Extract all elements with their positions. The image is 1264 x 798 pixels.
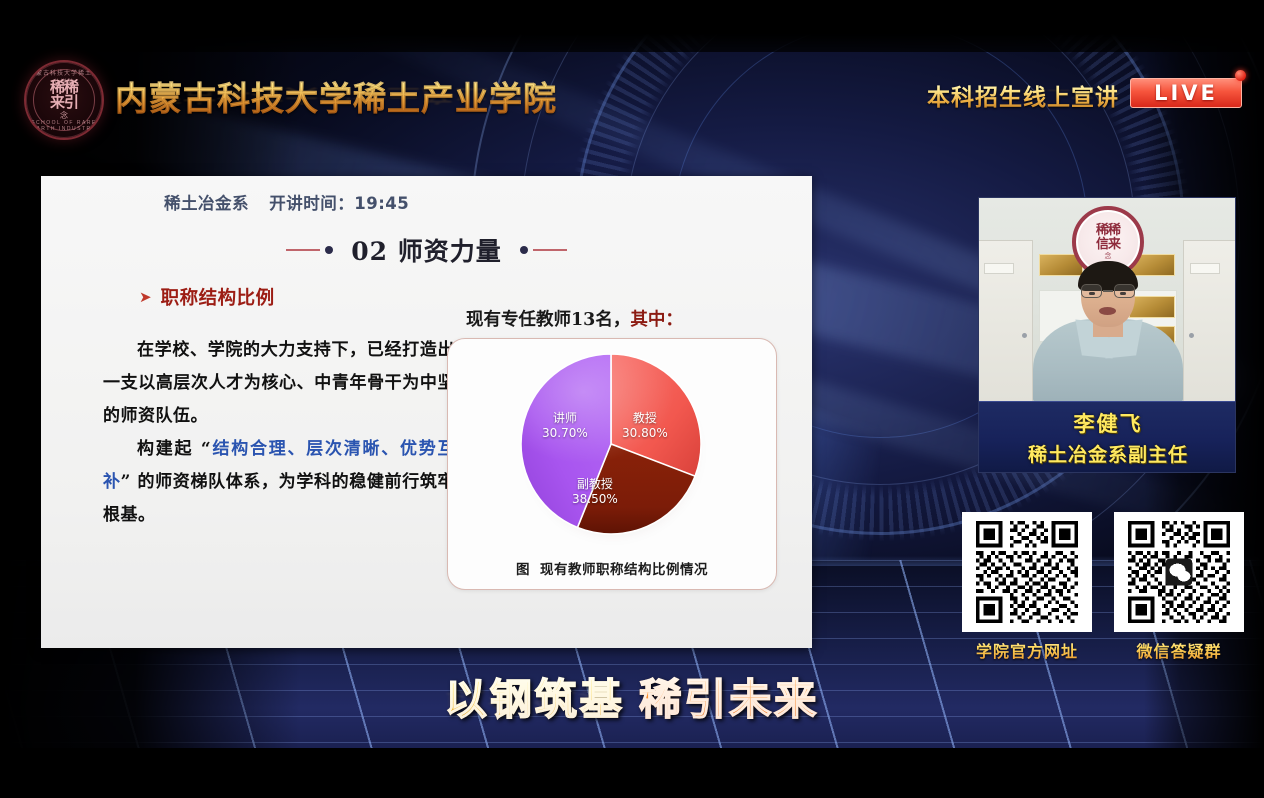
pie-label-professor-name: 教授: [622, 411, 668, 426]
title-decoration-left-icon: [286, 246, 333, 254]
paragraph-1: 在学校、学院的大力支持下，已经打造出一支以高层次人才为核心、中青年骨干为中坚的师…: [103, 334, 455, 433]
pie-label-lecturer-name: 讲师: [542, 411, 588, 426]
seal-glyph-line2: 来引: [50, 95, 78, 111]
paragraph-2: 构建起 “结构合理、层次清晰、优势互补” 的师资梯队体系，为学科的稳健前行筑牢根…: [103, 433, 455, 532]
presenter-nameplate: 李健飞 稀土冶金系副主任: [979, 401, 1236, 472]
deco-bar: [286, 249, 320, 251]
page-title: 02 师资力量: [351, 232, 502, 268]
chart-caption: 图现有教师职称结构比例情况: [448, 558, 776, 578]
chart-caption-prefix: 图: [516, 562, 530, 578]
qr-code-icon[interactable]: [962, 512, 1092, 632]
brand-title: 内蒙古科技大学稀土产业学院: [115, 72, 557, 120]
deco-bar: [533, 249, 567, 251]
title-decoration-right-icon: [520, 246, 567, 254]
door-sign-right: [1190, 263, 1220, 274]
backdrop-door-left: [979, 240, 1033, 403]
para2-pre: 构建起 “: [137, 439, 211, 459]
presentation-slide: 稀土冶金系 开讲时间：19:45 02 师资力量 ➤ 职称结构比例 在学校、学院…: [41, 176, 812, 648]
slide-meta-line: 稀土冶金系 开讲时间：19:45: [164, 190, 409, 214]
presenter-video-panel[interactable]: 稀稀 信来 念 李健飞: [978, 197, 1236, 473]
chart-caption-text: 现有教师职称结构比例情况: [540, 562, 708, 578]
door-knob-left-icon: [1022, 333, 1027, 338]
presenter-figure: [1033, 253, 1183, 403]
pie-label-associate-name: 副教授: [572, 477, 618, 492]
presenter-mouth: [1099, 307, 1116, 315]
header-bar: 内蒙古科技大学稀土产业学院 稀稀 来引 念 SCHOOL OF RARE EAR…: [0, 52, 1264, 140]
section-heading-label: 职称结构比例: [161, 284, 275, 310]
deco-dot: [520, 246, 528, 254]
backdrop-seal-line2: 信来: [1096, 238, 1120, 251]
presenter-name: 李健飞: [1074, 408, 1143, 438]
glasses-icon: [1080, 284, 1136, 299]
top-letterbox: [0, 0, 1264, 52]
slide-start-time-label: 开讲时间：19:45: [269, 194, 409, 213]
backdrop-door-right: [1183, 240, 1236, 403]
glasses-bridge: [1103, 290, 1113, 292]
chart-heading: 现有专任教师13名，其中：: [466, 306, 683, 331]
pie-label-associate: 副教授 38.50%: [572, 477, 618, 507]
pie-label-lecturer: 讲师 30.70%: [542, 411, 588, 441]
footer-slogan: 以钢筑基 稀引未来: [0, 666, 1264, 727]
pie-label-professor-value: 30.80%: [622, 426, 668, 441]
webcam-feed: 稀稀 信来 念: [979, 198, 1236, 403]
recording-dot-icon: [1235, 70, 1246, 81]
slide-department-label: 稀土冶金系: [164, 194, 249, 213]
qr-code-wechat-icon[interactable]: [1114, 512, 1244, 632]
pie-chart: 教授 30.80% 讲师 30.70% 副教授 38.50%: [518, 351, 706, 539]
qr-code-area: 学院官方网址: [962, 512, 1252, 672]
arrow-bullet-icon: ➤: [139, 290, 152, 305]
qr-block-website[interactable]: 学院官方网址: [962, 512, 1092, 662]
slogan-part-2: 稀引未来: [639, 666, 819, 727]
door-sign-left: [984, 263, 1014, 274]
pie-label-lecturer-value: 30.70%: [542, 426, 588, 441]
para2-post: ” 的师资梯队体系，为学科的稳健前行筑牢根基。: [103, 472, 455, 525]
section-heading: ➤ 职称结构比例: [139, 284, 275, 310]
slide-body-text: 在学校、学院的大力支持下，已经打造出一支以高层次人才为核心、中青年骨干为中坚的师…: [103, 334, 455, 532]
pie-label-associate-value: 38.50%: [572, 492, 618, 507]
pie-slices: [518, 351, 704, 537]
qr-block-wechat[interactable]: 微信答疑群: [1114, 512, 1244, 662]
qr-caption-website: 学院官方网址: [962, 638, 1092, 662]
glasses-lens-right: [1114, 284, 1135, 298]
pie-label-professor: 教授 30.80%: [622, 411, 668, 441]
university-seal-icon: 内蒙古科技大学稀土产业学院 稀稀 来引 念 SCHOOL OF RARE EAR…: [24, 60, 104, 140]
door-knob-right-icon: [1189, 333, 1194, 338]
pie-chart-card: 教授 30.80% 讲师 30.70% 副教授 38.50% 图现有教师职称结构…: [447, 338, 777, 590]
chart-heading-plain: 现有专任教师13名，: [466, 310, 630, 330]
backdrop-seal-line1: 稀稀: [1096, 224, 1120, 237]
deco-dot: [325, 246, 333, 254]
presenter-role: 稀土冶金系副主任: [1028, 440, 1188, 467]
seal-arc-bottom-text: SCHOOL OF RARE EARTH INDUSTRY: [26, 120, 102, 132]
chart-heading-emphasis: 其中：: [630, 310, 683, 330]
live-status-badge: LIVE: [1130, 78, 1242, 108]
live-stream-stage: 内蒙古科技大学稀土产业学院 稀稀 来引 念 SCHOOL OF RARE EAR…: [0, 0, 1264, 798]
slogan-part-1: 以钢筑基: [445, 666, 635, 727]
promo-text: 本科招生线上宣讲: [927, 78, 1119, 112]
live-label: LIVE: [1154, 81, 1218, 105]
slide-title-row: 02 师资力量: [41, 232, 812, 268]
glasses-lens-left: [1081, 284, 1102, 298]
qr-caption-wechat: 微信答疑群: [1114, 638, 1244, 662]
